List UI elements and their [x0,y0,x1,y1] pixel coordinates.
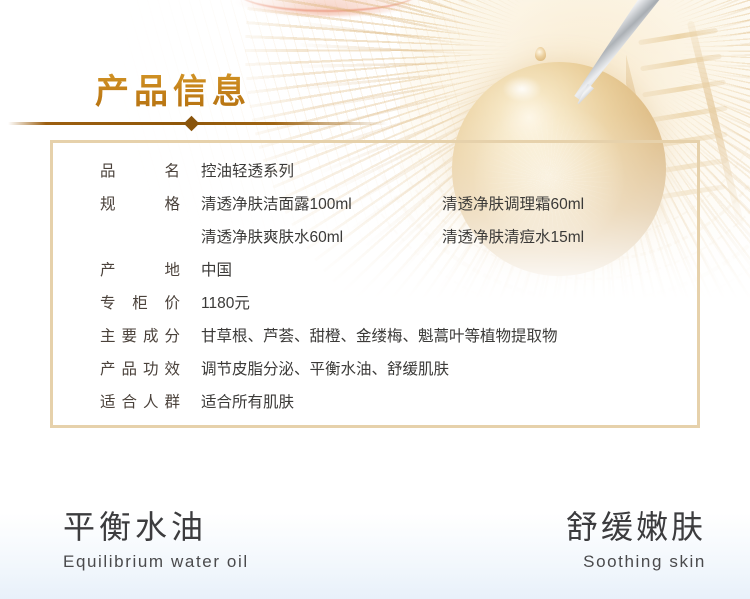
table-row: 清透净肤爽肤水60ml 清透净肤清痘水15ml [100,221,700,254]
row-value-col1: 清透净肤洁面露100ml [201,188,442,221]
table-row: 适合人群 适合所有肌肤 [100,386,700,419]
footer: 平衡水油 Equilibrium water oil 舒缓嫩肤 Soothing… [0,489,750,599]
row-value: 中国 [180,254,232,287]
row-value: 适合所有肌肤 [180,386,294,419]
row-label: 适合人群 [100,386,180,419]
product-info-box: 品 名 控油轻透系列 规 格 清透净肤洁面露100ml 清透净肤调理霜60ml … [50,140,700,428]
footer-right: 舒缓嫩肤 Soothing skin [566,505,706,575]
footer-left-cn: 平衡水油 [63,505,249,549]
product-info-table: 品 名 控油轻透系列 规 格 清透净肤洁面露100ml 清透净肤调理霜60ml … [100,155,700,419]
row-label: 规 格 [100,188,180,221]
footer-left: 平衡水油 Equilibrium water oil [63,505,249,575]
table-row: 主要成分 甘草根、芦荟、甜橙、金缕梅、魁蒿叶等植物提取物 [100,320,700,353]
row-value: 控油轻透系列 [180,155,294,188]
row-value-col1: 清透净肤爽肤水60ml [201,221,442,254]
row-label: 品 名 [100,155,180,188]
table-row: 品 名 控油轻透系列 [100,155,700,188]
table-row: 专 柜 价 1180元 [100,287,700,320]
table-row: 产品功效 调节皮脂分泌、平衡水油、舒缓肌肤 [100,353,700,386]
row-label: 产 地 [100,254,180,287]
row-value: 调节皮脂分泌、平衡水油、舒缓肌肤 [180,353,449,386]
row-value-col2: 清透净肤调理霜60ml [442,188,584,221]
row-label: 专 柜 价 [100,287,180,320]
footer-right-en: Soothing skin [566,549,706,575]
footer-right-cn: 舒缓嫩肤 [566,505,706,549]
table-row: 产 地 中国 [100,254,700,287]
row-label: 主要成分 [100,320,180,353]
table-row: 规 格 清透净肤洁面露100ml 清透净肤调理霜60ml [100,188,700,221]
row-value-col2: 清透净肤清痘水15ml [442,221,584,254]
title-divider [8,121,388,126]
row-value: 清透净肤爽肤水60ml 清透净肤清痘水15ml [180,221,584,254]
footer-left-en: Equilibrium water oil [63,549,249,575]
row-value: 1180元 [180,287,250,320]
row-value: 清透净肤洁面露100ml 清透净肤调理霜60ml [180,188,584,221]
row-label: 产品功效 [100,353,180,386]
page-root: 产品信息 品 名 控油轻透系列 规 格 清透净肤洁面露100ml 清透净肤调理霜… [0,0,750,599]
page-title: 产品信息 [95,64,251,113]
row-value: 甘草根、芦荟、甜橙、金缕梅、魁蒿叶等植物提取物 [180,320,558,353]
